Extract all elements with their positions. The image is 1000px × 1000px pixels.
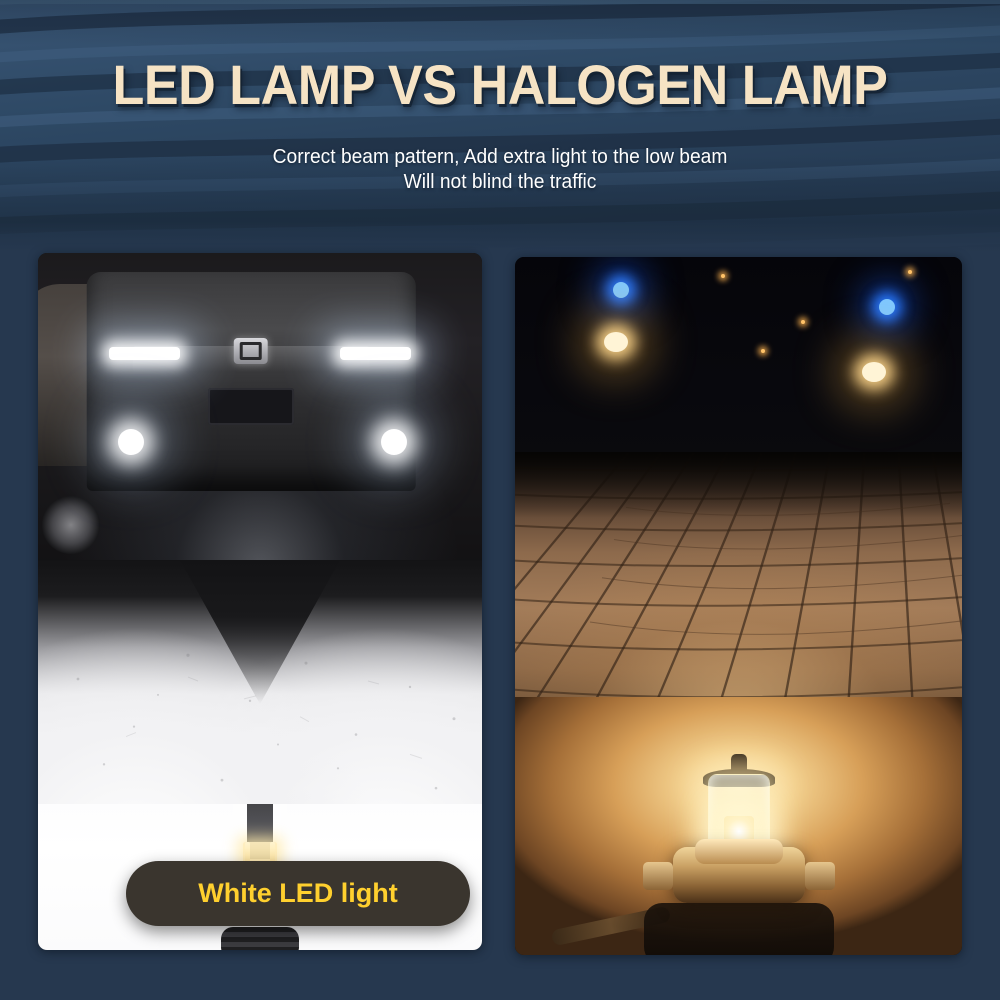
road-texture (38, 560, 482, 818)
blue-accent-light-left (613, 282, 629, 298)
car-emblem-icon (234, 338, 268, 364)
page-subtitle: Correct beam pattern, Add extra light to… (0, 145, 1000, 195)
halogen-base-tab-right (805, 862, 835, 890)
background-wheel (42, 496, 100, 554)
halogen-foglight-left (604, 332, 628, 352)
led-label-badge: White LED light (126, 861, 470, 926)
halogen-base-tab-left (643, 862, 673, 890)
led-beam-pattern-road (38, 560, 482, 818)
led-car-night-photo (38, 253, 482, 567)
led-foglight-left (118, 429, 144, 455)
led-headlight-left (109, 347, 180, 360)
led-bulb-base (221, 927, 299, 950)
car-front-body (87, 272, 416, 492)
led-foglight-right (381, 429, 407, 455)
comparison-infographic: LED LAMP VS HALOGEN LAMP Correct beam pa… (0, 0, 1000, 1000)
halogen-car-night-photo (515, 257, 962, 466)
halogen-foglight-right (862, 362, 886, 382)
background-light-speck-1 (721, 274, 725, 278)
halogen-comparison-panel: yellow halogen lamp (515, 257, 962, 955)
background-light-speck-2 (801, 320, 805, 324)
header-banner: LED LAMP VS HALOGEN LAMP Correct beam pa… (0, 0, 1000, 252)
halogen-brick-pavement (515, 452, 962, 703)
led-comparison-panel: White LED light (38, 253, 482, 950)
subtitle-line-2: Will not blind the traffic (20, 170, 980, 195)
header-vignette (0, 0, 1000, 252)
background-light-speck-3 (908, 270, 912, 274)
halogen-metal-base (673, 847, 805, 904)
blue-accent-light-right (879, 299, 895, 315)
subtitle-line-1: Correct beam pattern, Add extra light to… (20, 145, 980, 170)
halogen-bulb-socket (644, 903, 834, 955)
pavement-shadow-overlay (515, 452, 962, 517)
halogen-bulb-photo (515, 697, 962, 955)
page-title: LED LAMP VS HALOGEN LAMP (35, 56, 965, 114)
background-light-speck-4 (761, 349, 765, 353)
led-headlight-right (340, 347, 411, 360)
license-plate (208, 388, 293, 425)
